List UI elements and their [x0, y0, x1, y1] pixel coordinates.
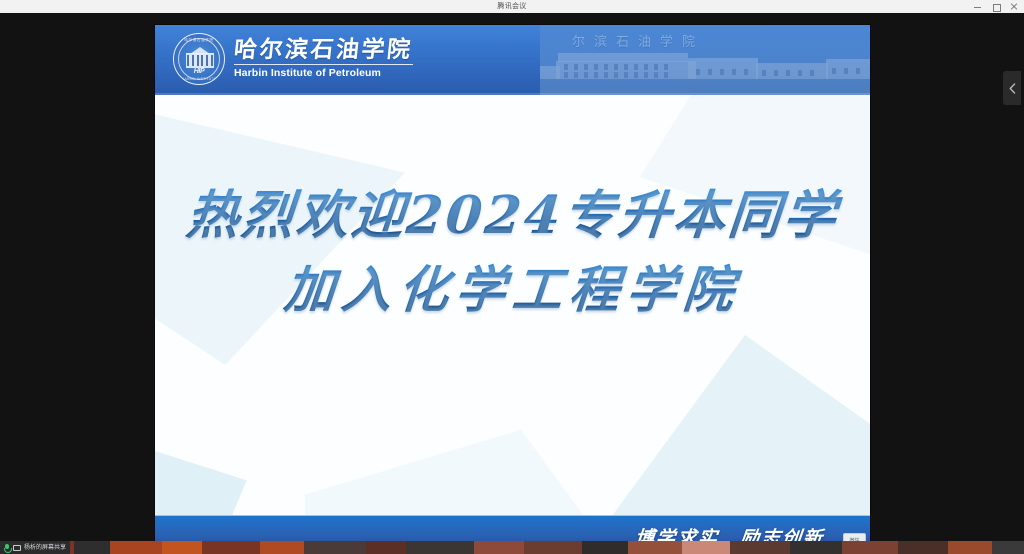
strip-tile[interactable] — [948, 541, 992, 554]
bg-facet-3 — [580, 335, 870, 515]
bg-facet-5 — [305, 425, 605, 515]
screen-share-taskbar-item[interactable]: 杨析的屏幕共享 — [0, 541, 70, 554]
seal-monogram: HIP — [174, 68, 224, 75]
strip-tile[interactable] — [682, 541, 730, 554]
strip-tile[interactable] — [110, 541, 162, 554]
window-title: 腾讯会议 — [497, 0, 526, 13]
strip-tile[interactable] — [524, 541, 582, 554]
bg-facet-4 — [155, 405, 315, 515]
meeting-stage: 尔滨石油学院 — [0, 13, 1024, 541]
strip-tile[interactable] — [202, 541, 260, 554]
microphone-icon — [4, 544, 10, 552]
university-name-en: Harbin Institute of Petroleum — [234, 64, 413, 80]
slide-title-line-1: 热烈欢迎2024专升本同学 — [155, 187, 870, 245]
minimize-icon[interactable] — [973, 2, 982, 11]
slide-body: 热烈欢迎2024专升本同学 加入化学工程学院 — [155, 95, 870, 515]
collapse-panel-button[interactable] — [1003, 71, 1021, 105]
university-name-cn: 哈尔滨石油学院 — [233, 38, 414, 63]
building-caption: 尔滨石油学院 — [572, 31, 704, 50]
tencent-meeting-window: 腾讯会议 尔滨石油学院 — [0, 0, 1024, 554]
maximize-icon[interactable] — [991, 2, 1000, 11]
strip-tile[interactable] — [260, 541, 304, 554]
strip-tile[interactable] — [162, 541, 202, 554]
bottom-video-strip — [0, 541, 1024, 554]
close-icon[interactable] — [1009, 2, 1018, 11]
strip-tile[interactable] — [582, 541, 628, 554]
campus-building-photo: 尔滨石油学院 — [540, 25, 870, 95]
slide-title-block: 热烈欢迎2024专升本同学 加入化学工程学院 — [155, 187, 870, 322]
slide-header: 尔滨石油学院 — [155, 25, 870, 95]
screen-share-label: 杨析的屏幕共享 — [24, 545, 66, 551]
university-seal-icon: 哈尔滨石油学院 HIP HARBIN INSTITUTE — [173, 33, 225, 85]
strip-tile[interactable] — [992, 541, 1024, 554]
strip-tile[interactable] — [730, 541, 790, 554]
window-titlebar: 腾讯会议 — [0, 0, 1024, 13]
strip-tile[interactable] — [790, 541, 842, 554]
strip-tile[interactable] — [474, 541, 524, 554]
window-controls — [973, 0, 1022, 13]
chevron-left-icon — [1009, 83, 1016, 94]
strip-tile[interactable] — [842, 541, 898, 554]
screen-share-icon — [13, 545, 21, 551]
seal-top-text: 哈尔滨石油学院 — [174, 38, 224, 43]
strip-tile[interactable] — [406, 541, 474, 554]
strip-tile[interactable] — [304, 541, 366, 554]
strip-tile[interactable] — [366, 541, 406, 554]
strip-tile[interactable] — [898, 541, 948, 554]
strip-tile[interactable] — [74, 541, 110, 554]
university-logo: 哈尔滨石油学院 HIP HARBIN INSTITUTE 哈尔滨石油学院 Har… — [173, 33, 413, 85]
shared-slide[interactable]: 尔滨石油学院 — [155, 25, 870, 554]
seal-bottom-text: HARBIN INSTITUTE — [174, 77, 224, 81]
strip-tile[interactable] — [628, 541, 682, 554]
slide-title-line-2: 加入化学工程学院 — [155, 259, 870, 322]
